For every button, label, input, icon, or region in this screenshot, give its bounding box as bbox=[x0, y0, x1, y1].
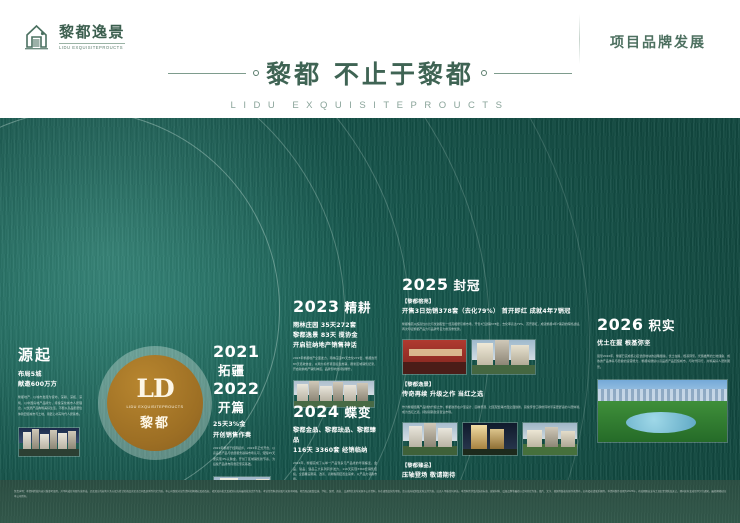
year-2026-keyword: 积实 bbox=[649, 318, 676, 333]
medallion-monogram: LD bbox=[136, 376, 173, 401]
brand-name-cn: 黎都逸景 bbox=[59, 24, 125, 41]
y2025-block2-body: 作为黎都经典产品线的升级之作，黎都逸景在户型设计、园林景观、社区配套等方面全面焕… bbox=[402, 405, 582, 416]
legal-disclaimer: 免责声明：本资料所载内容只做参考使用，并不构成任何要约或承诺，买卖双方的权利义务… bbox=[14, 489, 726, 499]
year-2021: 2021拓疆 bbox=[213, 343, 275, 378]
medallion-disc: LD LIDU EXQUISITEPROUCTS 黎都 bbox=[107, 355, 203, 451]
year-2023-number: 2023 bbox=[293, 297, 340, 316]
y2025-block1-tag: 【黎都榕苑】 bbox=[402, 298, 582, 305]
y2024-subtitle: 黎都金品、黎都珐品、黎都臻品 116天 3360套 经销临纳 bbox=[293, 426, 377, 457]
y2025-block3-subtitle: 压轴登场 敬请期待 bbox=[402, 471, 582, 480]
year-2025-keyword: 封冠 bbox=[454, 278, 481, 293]
y2021-body: 2021年黎都于桂南起步，2022年正式开盘，以高品质产品与优质服务赢得市场认可… bbox=[213, 446, 275, 468]
page-title-en: LIDU EXQUISITEPROUCTS bbox=[231, 100, 510, 111]
year-2024-number: 2024 bbox=[293, 402, 340, 421]
page-footer: 免责声明：本资料所载内容只做参考使用，并不构成任何要约或承诺，买卖双方的权利义务… bbox=[0, 480, 740, 523]
center-medallion: LD LIDU EXQUISITEPROUCTS 黎都 bbox=[98, 346, 212, 460]
y2025-photo-building-a bbox=[471, 339, 536, 375]
title-rule-right bbox=[494, 73, 572, 74]
year-2023-keyword: 精耕 bbox=[345, 300, 372, 315]
house-logo-icon bbox=[22, 22, 52, 52]
y2025-block2-subtitle: 传奇再续 升级之作 当红之选 bbox=[402, 390, 582, 400]
title-dot-right bbox=[481, 70, 487, 76]
year-2021-number: 2021 bbox=[213, 342, 260, 361]
y2025-block1-subtitle: 开售3日劲销378套（去化79%） 首开即红 成就4年7销冠 bbox=[402, 307, 582, 317]
y2024-body: 2024年，黎都完成了从单一产品到多元产品线的华丽蝶变，金品、珐品、臻品三大系列… bbox=[293, 461, 377, 480]
y2023-subtitle: 雨林庄园 35天272套 黎都逸景 83天 揽协金 开启驻纳地产销售神话 bbox=[293, 321, 377, 352]
y2026-photo-park bbox=[597, 379, 728, 443]
title-dot-left bbox=[253, 70, 259, 76]
main-title-block: 黎都 不止于黎都 LIDU EXQUISITEPROUCTS bbox=[0, 55, 740, 111]
milestone-2023: 2023精耕 雨林庄园 35天272套 黎都逸景 83天 揽协金 开启驻纳地产销… bbox=[293, 298, 377, 408]
origin-subtitle: 布局5城 献邀600万方 bbox=[18, 370, 82, 390]
year-2024-keyword: 蝶变 bbox=[345, 405, 372, 420]
year-2025: 2025封冠 bbox=[402, 276, 582, 294]
year-2021-keyword: 拓疆 bbox=[218, 363, 245, 378]
year-2024: 2024蝶变 bbox=[293, 403, 377, 421]
section-label: 项目品牌发展 bbox=[610, 32, 706, 52]
title-rule-left bbox=[168, 73, 246, 74]
y2025-photo-tower-c bbox=[522, 422, 578, 456]
footer-texture bbox=[0, 480, 740, 523]
origin-title: 源起 bbox=[18, 344, 82, 365]
medallion-brand-cn: 黎都 bbox=[140, 412, 170, 431]
year-2026-number: 2026 bbox=[597, 315, 644, 334]
origin-photo bbox=[18, 427, 80, 457]
medallion-brand-en: LIDU EXQUISITEPROUCTS bbox=[127, 405, 184, 409]
y2026-subtitle: 优土在握 根基弥坚 bbox=[597, 339, 730, 349]
year-2023: 2023精耕 bbox=[293, 298, 377, 316]
milestone-2024: 2024蝶变 黎都金品、黎都珐品、黎都臻品 116天 3360套 经销临纳 20… bbox=[293, 403, 377, 480]
y2025-block1-body: 黎都榕苑以超高性价比与优越配套一经亮相便引爆市场，开售3日劲销378套，去化率高… bbox=[402, 322, 582, 333]
y2025-block3-tag: 【黎都臻品】 bbox=[402, 462, 582, 469]
y2025-photo-tower-b bbox=[462, 422, 518, 456]
timeline-board: LD LIDU EXQUISITEPROUCTS 黎都 源起 布局5城 献邀60… bbox=[0, 118, 740, 480]
milestone-2021-2022: 2021拓疆 2022开篇 25天3%金 开创销售作奏 2021年黎都于桂南起步… bbox=[213, 343, 275, 480]
year-2026: 2026积实 bbox=[597, 316, 730, 334]
year-2022: 2022开篇 bbox=[213, 380, 275, 415]
brand-name-en: LIDU EXQUISITEPROUCTS bbox=[59, 43, 125, 51]
milestone-2026: 2026积实 优土在握 根基弥坚 展望2026年，黎都已完成核心区优质地块的战略… bbox=[597, 316, 730, 443]
page-title: 黎都 不止于黎都 bbox=[266, 55, 474, 91]
origin-body: 黎都地产，以城市发展为使命，深耕、深拓、深筑，以中国房地产品牌力，持续深化城市人… bbox=[18, 395, 82, 417]
y2025-block2-photos bbox=[402, 422, 582, 456]
year-2022-keyword: 开篇 bbox=[218, 400, 245, 415]
y2025-photo-tower-a bbox=[402, 422, 458, 456]
brand-logo: 黎都逸景 LIDU EXQUISITEPROUCTS bbox=[22, 22, 125, 52]
milestone-2025: 2025封冠 【黎都榕苑】 开售3日劲销378套（去化79%） 首开即红 成就4… bbox=[402, 276, 582, 480]
y2025-block1-photos bbox=[402, 339, 582, 375]
y2026-body: 展望2026年，黎都已完成核心区优质地块的战略储备，优土在握，根基弥坚。凭借雄厚… bbox=[597, 354, 730, 370]
year-2022-number: 2022 bbox=[213, 379, 260, 398]
y2025-block2-tag: 【黎都逸景】 bbox=[402, 381, 582, 388]
year-2025-number: 2025 bbox=[402, 275, 449, 294]
y2023-body: 2023年黎都地产全面发力，雨林庄园35天去化272套，黎都逸景83天揽收协金，… bbox=[293, 356, 377, 372]
y2025-photo-event bbox=[402, 339, 467, 375]
milestone-origin: 源起 布局5城 献邀600万方 黎都地产，以城市发展为使命，深耕、深拓、深筑，以… bbox=[18, 344, 82, 457]
y2021-subtitle: 25天3%金 开创销售作奏 bbox=[213, 420, 275, 440]
page-header: 黎都逸景 LIDU EXQUISITEPROUCTS 项目品牌发展 黎都 不止于… bbox=[0, 0, 740, 118]
